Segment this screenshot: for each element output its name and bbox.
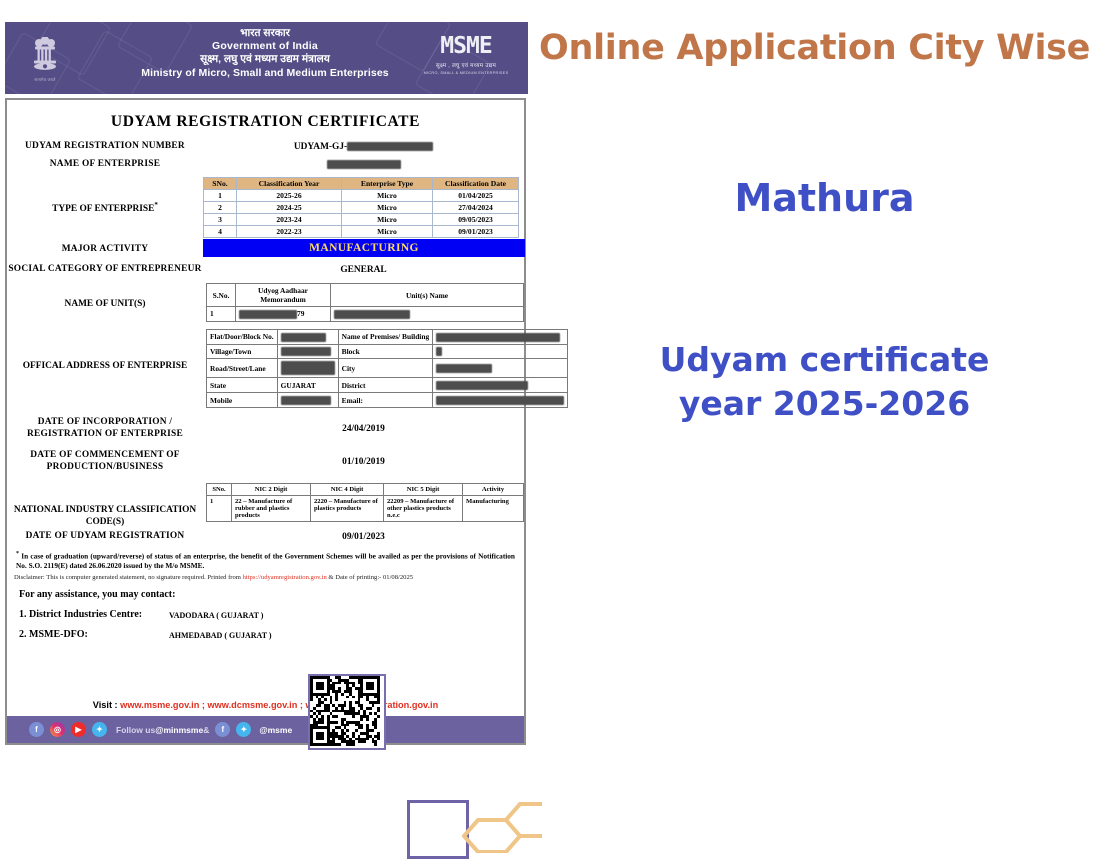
name-of-units-label: NAME OF UNIT(S) xyxy=(7,299,203,309)
address-row-mobile: Mobile Email: xyxy=(207,393,568,408)
nic-col-5digit: NIC 5 Digit xyxy=(384,483,463,495)
nic-col-2digit: NIC 2 Digit xyxy=(232,483,311,495)
ministry-line-hindi-1: भारत सरकार xyxy=(125,27,405,40)
type-of-enterprise-label: TYPE OF ENTERPRISE* xyxy=(7,201,203,214)
registration-number-prefix: UDYAM-GJ- xyxy=(294,142,347,152)
ministry-line-english-2: Ministry of Micro, Small and Medium Ente… xyxy=(125,67,405,80)
classification-col-year: Classification Year xyxy=(237,177,342,189)
table-row: 22024-25Micro27/04/2024 xyxy=(204,201,519,213)
qr-code[interactable] xyxy=(308,674,386,750)
classification-col-sno: SNo. xyxy=(204,177,237,189)
classification-cell-1: 2024-25 xyxy=(237,201,342,213)
graduation-note-text: In case of graduation (upward/reverse) o… xyxy=(16,551,515,570)
graduation-note-star: * xyxy=(16,551,19,557)
classification-cell-3: 09/01/2023 xyxy=(433,225,519,237)
table-row: 12025-26Micro01/04/2025 xyxy=(204,189,519,201)
address-mobile-value xyxy=(277,393,338,408)
classification-cell-1: 2023-24 xyxy=(237,213,342,225)
address-district-redacted xyxy=(436,381,528,390)
contact-row-dfo: 2. MSME-DFO: AHMEDABAD ( GUJARAT ) xyxy=(19,629,524,640)
table-row: 42022-23Micro09/01/2023 xyxy=(204,225,519,237)
nic-header-row: SNo. NIC 2 Digit NIC 4 Digit NIC 5 Digit… xyxy=(207,483,524,495)
disclaimer-pre: Disclaimer: This is computer generated s… xyxy=(14,574,243,581)
classification-cell-0: 4 xyxy=(204,225,237,237)
address-block-redacted xyxy=(436,347,442,356)
official-address-row: OFFICAL ADDRESS OF ENTERPRISE Flat/Door/… xyxy=(7,329,524,408)
contact-dic-label: 1. District Industries Centre: xyxy=(19,609,169,620)
contact-dfo-label: 2. MSME-DFO: xyxy=(19,629,169,640)
nic-data-row: 1 22 – Manufacture of rubber and plastic… xyxy=(207,495,524,521)
enterprise-name-label: NAME OF ENTERPRISE xyxy=(7,159,203,171)
emblem-caption: सत्यमेव जयते xyxy=(34,78,55,82)
certificate-title: UDYAM REGISTRATION CERTIFICATE xyxy=(7,113,524,131)
promo-subtitle-line-1: Udyam certificate xyxy=(533,338,1116,382)
msme-logo-english: MICRO, SMALL & MEDIUM ENTERPRISES xyxy=(418,71,514,75)
address-flat-redacted xyxy=(281,333,326,342)
promo-city-name: Mathura xyxy=(533,176,1116,220)
registration-number-value: UDYAM-GJ- xyxy=(203,142,524,152)
nic-code-row: NATIONAL INDUSTRY CLASSIFICATION CODE(S)… xyxy=(7,483,524,522)
units-uam-suffix: 79 xyxy=(297,309,304,318)
type-of-enterprise-label-text: TYPE OF ENTERPRISE xyxy=(52,204,154,214)
registration-number-label: UDYAM REGISTRATION NUMBER xyxy=(7,141,203,153)
classification-cell-3: 01/04/2025 xyxy=(433,189,519,201)
facebook-icon-2[interactable]: f xyxy=(215,722,230,737)
follow-us-text: Follow us xyxy=(116,725,155,735)
visit-links-line: Visit : www.msme.gov.in ; www.dcmsme.gov… xyxy=(7,700,524,710)
type-of-enterprise-star: * xyxy=(154,201,158,209)
nic-col-activity: Activity xyxy=(463,483,524,495)
handle-msme[interactable]: @msme xyxy=(259,725,292,735)
major-activity-label: MAJOR ACTIVITY xyxy=(7,238,203,256)
udyam-registration-date-label: DATE OF UDYAM REGISTRATION xyxy=(7,531,203,543)
contact-dfo-value: AHMEDABAD ( GUJARAT ) xyxy=(169,629,272,640)
assistance-heading: For any assistance, you may contact: xyxy=(19,589,524,600)
social-category-row: SOCIAL CATEGORY OF ENTREPRENEUR GENERAL xyxy=(7,264,524,276)
classification-cell-2: Micro xyxy=(342,189,433,201)
address-state-value: GUJARAT xyxy=(277,378,338,393)
address-premises-key: Name of Premises/ Building xyxy=(338,329,433,344)
units-col-uam: Udyog Aadhaar Memorandum xyxy=(236,284,331,307)
certificate-signature-box xyxy=(407,800,469,859)
type-of-enterprise-row: TYPE OF ENTERPRISE* SNo. Classification … xyxy=(203,177,527,238)
address-village-key: Village/Town xyxy=(207,344,278,359)
official-address-label: OFFICAL ADDRESS OF ENTERPRISE xyxy=(7,361,203,371)
enterprise-name-value xyxy=(203,160,524,170)
units-col-name: Unit(s) Name xyxy=(331,284,524,307)
nic-col-4digit: NIC 4 Digit xyxy=(311,483,384,495)
units-uam: 79 xyxy=(236,307,331,322)
twitter-icon-2[interactable]: ✦ xyxy=(236,722,251,737)
hexagon-decoration xyxy=(462,790,542,853)
classification-cell-3: 27/04/2024 xyxy=(433,201,519,213)
nic-2digit: 22 – Manufacture of rubber and plastics … xyxy=(232,495,311,521)
instagram-icon[interactable]: ◎ xyxy=(50,722,65,737)
youtube-icon[interactable]: ▶ xyxy=(71,722,86,737)
nic-5digit: 22209 – Manufacture of other plastics pr… xyxy=(384,495,463,521)
units-col-sno: S.No. xyxy=(207,284,236,307)
visit-label: Visit : xyxy=(93,700,120,710)
units-uam-redacted xyxy=(239,310,297,319)
udyam-certificate-sheet: UDYAM REGISTRATION CERTIFICATE UDYAM REG… xyxy=(5,98,526,745)
graduation-note: * In case of graduation (upward/reverse)… xyxy=(16,550,515,571)
handle-minmsme[interactable]: @minmsme xyxy=(155,725,203,735)
india-emblem-icon: सत्यमेव जयते xyxy=(19,30,71,88)
contact-row-dic: 1. District Industries Centre: VADODARA … xyxy=(19,609,524,620)
ministry-line-english-1: Government of India xyxy=(125,40,405,53)
twitter-icon[interactable]: ✦ xyxy=(92,722,107,737)
address-road-value xyxy=(277,359,338,378)
units-name xyxy=(331,307,524,322)
incorporation-date-row: DATE OF INCORPORATION / REGISTRATION OF … xyxy=(7,417,524,441)
classification-cell-1: 2025-26 xyxy=(237,189,342,201)
commencement-date-value: 01/10/2019 xyxy=(203,457,524,467)
address-flat-value xyxy=(277,329,338,344)
nic-table: SNo. NIC 2 Digit NIC 4 Digit NIC 5 Digit… xyxy=(206,483,524,522)
classification-cell-2: Micro xyxy=(342,213,433,225)
classification-cell-0: 1 xyxy=(204,189,237,201)
commencement-date-row: DATE OF COMMENCEMENT OF PRODUCTION/BUSIN… xyxy=(7,450,524,474)
address-road-redacted xyxy=(281,361,335,375)
disclaimer-post: & Date of printing:- 01/08/2025 xyxy=(327,574,413,581)
classification-cell-3: 09/05/2023 xyxy=(433,213,519,225)
units-table: S.No. Udyog Aadhaar Memorandum Unit(s) N… xyxy=(206,283,524,322)
table-row: 32023-24Micro09/05/2023 xyxy=(204,213,519,225)
contact-dic-value: VADODARA ( GUJARAT ) xyxy=(169,609,263,620)
enterprise-name-row: NAME OF ENTERPRISE xyxy=(7,159,524,171)
name-of-units-row: NAME OF UNIT(S) S.No. Udyog Aadhaar Memo… xyxy=(7,283,524,322)
classification-header-row: SNo. Classification Year Enterprise Type… xyxy=(204,177,519,189)
nic-activity: Manufacturing xyxy=(463,495,524,521)
promo-panel: Online Application City Wise Mathura Udy… xyxy=(533,0,1116,753)
address-city-key: City xyxy=(338,359,433,378)
units-sno: 1 xyxy=(207,307,236,322)
classification-cell-0: 3 xyxy=(204,213,237,225)
units-data-row: 1 79 xyxy=(207,307,524,322)
disclaimer-line: Disclaimer: This is computer generated s… xyxy=(14,574,517,581)
udyam-portal-link[interactable]: https://udyamregistration.gov.in xyxy=(243,574,327,581)
promo-title: Online Application City Wise xyxy=(539,28,1116,68)
classification-col-type: Enterprise Type xyxy=(342,177,433,189)
enterprise-name-redacted xyxy=(327,160,401,169)
nic-col-sno: SNo. xyxy=(207,483,232,495)
social-category-value: GENERAL xyxy=(203,265,524,275)
incorporation-date-value: 24/04/2019 xyxy=(203,424,524,434)
nic-sno: 1 xyxy=(207,495,232,521)
udyam-registration-date-row: DATE OF UDYAM REGISTRATION 09/01/2023 xyxy=(7,531,524,543)
address-district-key: District xyxy=(338,378,433,393)
social-amp: & xyxy=(203,725,209,735)
social-category-label: SOCIAL CATEGORY OF ENTREPRENEUR xyxy=(7,264,203,276)
address-mobile-key: Mobile xyxy=(207,393,278,408)
nic-4digit: 2220 – Manufacture of plastics products xyxy=(311,495,384,521)
address-mobile-redacted xyxy=(281,396,331,405)
address-row-state: State GUJARAT District xyxy=(207,378,568,393)
address-table: Flat/Door/Block No. Name of Premises/ Bu… xyxy=(206,329,568,408)
address-row-village: Village/Town Block xyxy=(207,344,568,359)
major-activity-banner: MANUFACTURING xyxy=(203,239,525,257)
classification-col-date: Classification Date xyxy=(433,177,519,189)
social-media-bar: f ◎ ▶ ✦ Follow us @minmsme & f ✦ @msme xyxy=(7,716,524,743)
classification-cell-2: Micro xyxy=(342,201,433,213)
commencement-date-label: DATE OF COMMENCEMENT OF PRODUCTION/BUSIN… xyxy=(7,450,203,474)
certificate-column: सत्यमेव जयते भारत सरकार Government of In… xyxy=(0,0,533,753)
registration-number-row: UDYAM REGISTRATION NUMBER UDYAM-GJ- xyxy=(7,141,524,153)
classification-body: 12025-26Micro01/04/202522024-25Micro27/0… xyxy=(204,189,519,237)
classification-cell-1: 2022-23 xyxy=(237,225,342,237)
address-block-key: Block xyxy=(338,344,433,359)
msme-header-band: सत्यमेव जयते भारत सरकार Government of In… xyxy=(5,22,528,94)
address-city-redacted xyxy=(436,364,492,373)
address-flat-key: Flat/Door/Block No. xyxy=(207,329,278,344)
address-row-flat: Flat/Door/Block No. Name of Premises/ Bu… xyxy=(207,329,568,344)
ministry-title-block: भारत सरकार Government of India सूक्ष्म, … xyxy=(125,27,405,80)
incorporation-date-label: DATE OF INCORPORATION / REGISTRATION OF … xyxy=(7,417,203,441)
address-road-key: Road/Street/Lane xyxy=(207,359,278,378)
nic-code-label: NATIONAL INDUSTRY CLASSIFICATION CODE(S) xyxy=(7,505,203,529)
udyam-registration-date-value: 09/01/2023 xyxy=(203,532,524,542)
classification-cell-2: Micro xyxy=(342,225,433,237)
classification-table: SNo. Classification Year Enterprise Type… xyxy=(203,177,519,238)
address-village-redacted xyxy=(281,347,331,356)
msme-logo: MSME सूक्ष्म , लघु एवं मध्यम उद्यम MICRO… xyxy=(418,35,514,75)
address-village-value xyxy=(277,344,338,359)
ministry-line-hindi-2: सूक्ष्म, लघु एवं मध्यम उद्यम मंत्रालय xyxy=(125,53,405,66)
address-row-road: Road/Street/Lane City xyxy=(207,359,568,378)
visit-urls[interactable]: www.msme.gov.in ; www.dcmsme.gov.in ; ww… xyxy=(120,700,438,710)
units-header-row: S.No. Udyog Aadhaar Memorandum Unit(s) N… xyxy=(207,284,524,307)
classification-cell-0: 2 xyxy=(204,201,237,213)
msme-logo-hindi: सूक्ष्म , लघु एवं मध्यम उद्यम xyxy=(418,61,514,69)
msme-logo-mark: MSME xyxy=(418,35,514,58)
address-email-key: Email: xyxy=(338,393,433,408)
registration-number-redacted xyxy=(347,142,433,151)
promo-subtitle: Udyam certificate year 2025-2026 xyxy=(533,338,1116,425)
facebook-icon[interactable]: f xyxy=(29,722,44,737)
units-name-redacted xyxy=(334,310,410,319)
promo-subtitle-line-2: year 2025-2026 xyxy=(533,382,1116,426)
address-state-key: State xyxy=(207,378,278,393)
